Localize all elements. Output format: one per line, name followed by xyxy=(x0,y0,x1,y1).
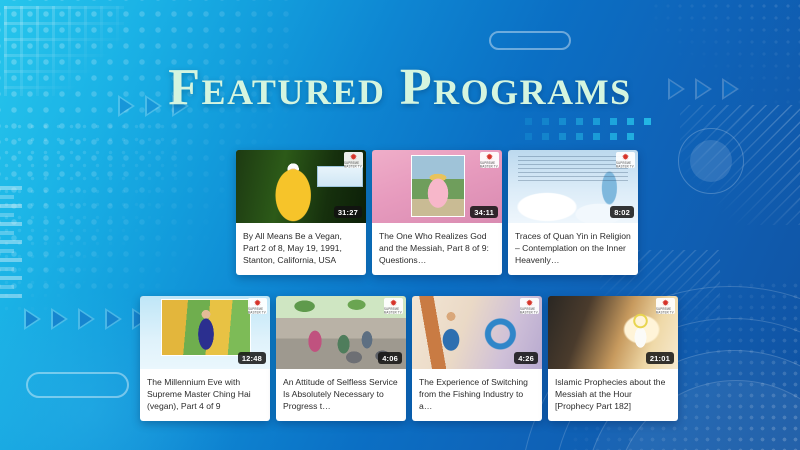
square-dot xyxy=(559,118,566,125)
channel-logo-icon: ✹SUPREME MASTER TV xyxy=(616,152,635,168)
duration-badge: 21:01 xyxy=(646,352,674,364)
featured-row-2: ✹SUPREME MASTER TV12:48The Millennium Ev… xyxy=(140,296,678,421)
program-title: An Attitude of Selfless Service Is Absol… xyxy=(276,369,406,421)
program-card[interactable]: ✹SUPREME MASTER TV4:26The Experience of … xyxy=(412,296,542,421)
play-triangle-icon xyxy=(78,308,95,330)
program-title: The Experience of Switching from the Fis… xyxy=(412,369,542,421)
square-dot xyxy=(593,133,600,140)
program-title: The Millennium Eve with Supreme Master C… xyxy=(140,369,270,421)
program-title: Traces of Quan Yin in Religion – Contemp… xyxy=(508,223,638,275)
play-triangle-icon xyxy=(105,308,122,330)
program-thumbnail[interactable]: ✹SUPREME MASTER TV34:11 xyxy=(372,150,502,223)
square-dot xyxy=(542,118,549,125)
logo-wordmark: SUPREME MASTER TV xyxy=(480,161,499,168)
square-dot xyxy=(559,133,566,140)
program-card[interactable]: ✹SUPREME MASTER TV4:06An Attitude of Sel… xyxy=(276,296,406,421)
program-thumbnail[interactable]: ✹SUPREME MASTER TV21:01 xyxy=(548,296,678,369)
program-thumbnail[interactable]: ✹SUPREME MASTER TV12:48 xyxy=(140,296,270,369)
duration-badge: 34:11 xyxy=(470,206,498,218)
diagonal-stripes-right xyxy=(680,105,800,225)
circle-filled-decoration xyxy=(690,140,732,182)
duration-badge: 12:48 xyxy=(238,352,266,364)
program-thumbnail[interactable]: ✹SUPREME MASTER TV4:26 xyxy=(412,296,542,369)
vertical-bar-stack-left xyxy=(0,186,26,308)
circle-outline-decoration xyxy=(678,128,744,194)
square-dot xyxy=(644,118,651,125)
program-title: By All Means Be a Vegan, Part 2 of 8, Ma… xyxy=(236,223,366,275)
program-title: The One Who Realizes God and the Messiah… xyxy=(372,223,502,275)
square-dot xyxy=(627,118,634,125)
logo-wordmark: SUPREME MASTER TV xyxy=(520,307,539,314)
duration-badge: 4:26 xyxy=(514,352,538,364)
logo-wordmark: SUPREME MASTER TV xyxy=(656,307,675,314)
channel-logo-icon: ✹SUPREME MASTER TV xyxy=(520,298,539,314)
program-thumbnail[interactable]: ✹SUPREME MASTER TV8:02 xyxy=(508,150,638,223)
channel-logo-icon: ✹SUPREME MASTER TV xyxy=(344,152,363,168)
square-dot xyxy=(610,118,617,125)
logo-wordmark: SUPREME MASTER TV xyxy=(616,161,635,168)
pill-outline-top xyxy=(489,31,571,50)
featured-row-1: ✹SUPREME MASTER TV31:27By All Means Be a… xyxy=(236,150,638,275)
channel-logo-icon: ✹SUPREME MASTER TV xyxy=(480,152,499,168)
program-card[interactable]: ✹SUPREME MASTER TV31:27By All Means Be a… xyxy=(236,150,366,275)
square-dot xyxy=(593,118,600,125)
program-card[interactable]: ✹SUPREME MASTER TV8:02Traces of Quan Yin… xyxy=(508,150,638,275)
duration-badge: 31:27 xyxy=(334,206,362,218)
square-dot xyxy=(627,133,634,140)
page-title: Featured Programs xyxy=(0,62,800,114)
play-triangle-icon xyxy=(24,308,41,330)
logo-wordmark: SUPREME MASTER TV xyxy=(344,161,363,168)
channel-logo-icon: ✹SUPREME MASTER TV xyxy=(656,298,675,314)
channel-logo-icon: ✹SUPREME MASTER TV xyxy=(384,298,403,314)
play-triangle-icon xyxy=(51,308,68,330)
logo-wordmark: SUPREME MASTER TV xyxy=(384,307,403,314)
program-card[interactable]: ✹SUPREME MASTER TV12:48The Millennium Ev… xyxy=(140,296,270,421)
logo-wordmark: SUPREME MASTER TV xyxy=(248,307,267,314)
halftone-dots-left-lower xyxy=(0,120,180,320)
square-dot xyxy=(610,133,617,140)
duration-badge: 4:06 xyxy=(378,352,402,364)
duration-badge: 8:02 xyxy=(610,206,634,218)
pill-outline-bottom-left xyxy=(26,372,129,398)
program-card[interactable]: ✹SUPREME MASTER TV21:01Islamic Prophecie… xyxy=(548,296,678,421)
square-dot-pattern-under-title xyxy=(525,118,695,148)
square-dot xyxy=(525,118,532,125)
square-dot xyxy=(576,118,583,125)
square-dot xyxy=(576,133,583,140)
program-thumbnail[interactable]: ✹SUPREME MASTER TV4:06 xyxy=(276,296,406,369)
program-title: Islamic Prophecies about the Messiah at … xyxy=(548,369,678,421)
program-thumbnail[interactable]: ✹SUPREME MASTER TV31:27 xyxy=(236,150,366,223)
featured-programs-slide: Featured Programs ✹SUPREME MASTER TV31:2… xyxy=(0,0,800,450)
square-dot xyxy=(542,133,549,140)
program-card[interactable]: ✹SUPREME MASTER TV34:11The One Who Reali… xyxy=(372,150,502,275)
channel-logo-icon: ✹SUPREME MASTER TV xyxy=(248,298,267,314)
square-dot xyxy=(525,133,532,140)
